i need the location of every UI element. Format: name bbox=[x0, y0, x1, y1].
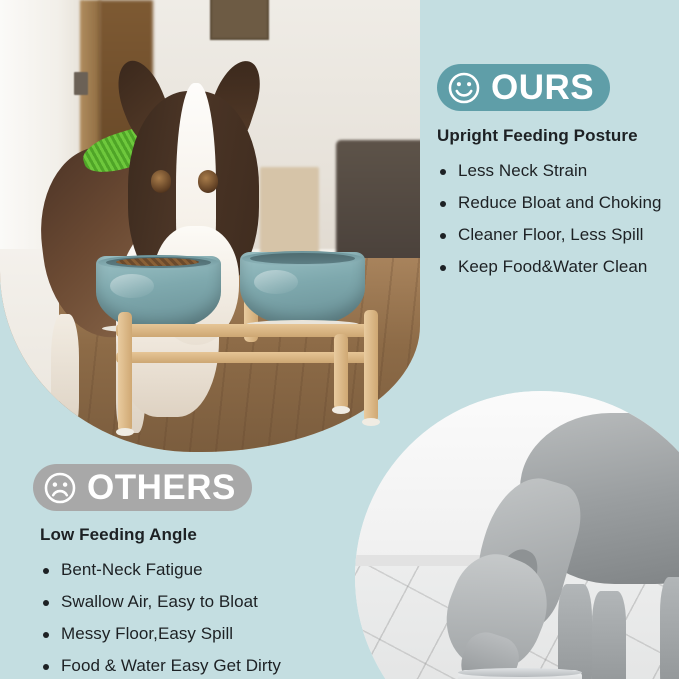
bowl-rim bbox=[458, 668, 581, 677]
ceramic-bowl-right bbox=[240, 252, 365, 326]
dog-food-kibble bbox=[116, 258, 199, 266]
stand-foot-pad bbox=[332, 406, 350, 414]
list-item: Swallow Air, Easy to Bloat bbox=[40, 593, 363, 610]
ours-subtitle: Upright Feeding Posture bbox=[437, 126, 679, 146]
elevated-bamboo-bowl-stand bbox=[92, 252, 392, 452]
dog-front-leg bbox=[51, 314, 80, 433]
list-item: Less Neck Strain bbox=[437, 162, 679, 179]
others-badge: OTHERS bbox=[33, 464, 252, 511]
bowl-highlight bbox=[254, 270, 298, 294]
dog-eye-left bbox=[151, 170, 172, 192]
list-item: Food & Water Easy Get Dirty bbox=[40, 657, 363, 674]
dog-eye-right bbox=[198, 170, 219, 192]
sad-face-icon bbox=[43, 471, 77, 505]
dog-front-leg bbox=[558, 584, 592, 679]
bowl-highlight bbox=[110, 274, 154, 298]
ours-badge-label: OURS bbox=[491, 68, 594, 107]
stainless-steel-floor-bowl bbox=[458, 670, 581, 679]
list-item: Keep Food&Water Clean bbox=[437, 258, 679, 275]
stand-leg-back bbox=[334, 334, 348, 410]
dog-hind-leg bbox=[660, 577, 679, 679]
ours-panel: OURS Upright Feeding Posture Less Neck S… bbox=[437, 64, 679, 290]
list-item: Cleaner Floor, Less Spill bbox=[437, 226, 679, 243]
ours-badge: OURS bbox=[437, 64, 610, 111]
others-subtitle: Low Feeding Angle bbox=[40, 525, 363, 545]
dog-front-leg bbox=[592, 591, 626, 679]
ours-benefit-list: Less Neck Strain Reduce Bloat and Chokin… bbox=[437, 162, 679, 275]
others-badge-label: OTHERS bbox=[87, 468, 236, 507]
infographic-page: OURS Upright Feeding Posture Less Neck S… bbox=[0, 0, 679, 679]
list-item: Messy Floor,Easy Spill bbox=[40, 625, 363, 642]
others-drawback-list: Bent-Neck Fatigue Swallow Air, Easy to B… bbox=[40, 561, 363, 674]
list-item: Bent-Neck Fatigue bbox=[40, 561, 363, 578]
list-item: Reduce Bloat and Choking bbox=[437, 194, 679, 211]
others-problem-photo bbox=[355, 391, 679, 679]
stand-foot-pad bbox=[116, 428, 134, 436]
stand-leg-front-left bbox=[118, 312, 132, 432]
others-panel: OTHERS Low Feeding Angle Bent-Neck Fatig… bbox=[33, 464, 363, 679]
bowl-cavity bbox=[250, 253, 355, 264]
ceramic-bowl-left bbox=[96, 256, 221, 330]
smiley-face-icon bbox=[447, 71, 481, 105]
grey-dog-bending bbox=[407, 398, 679, 679]
